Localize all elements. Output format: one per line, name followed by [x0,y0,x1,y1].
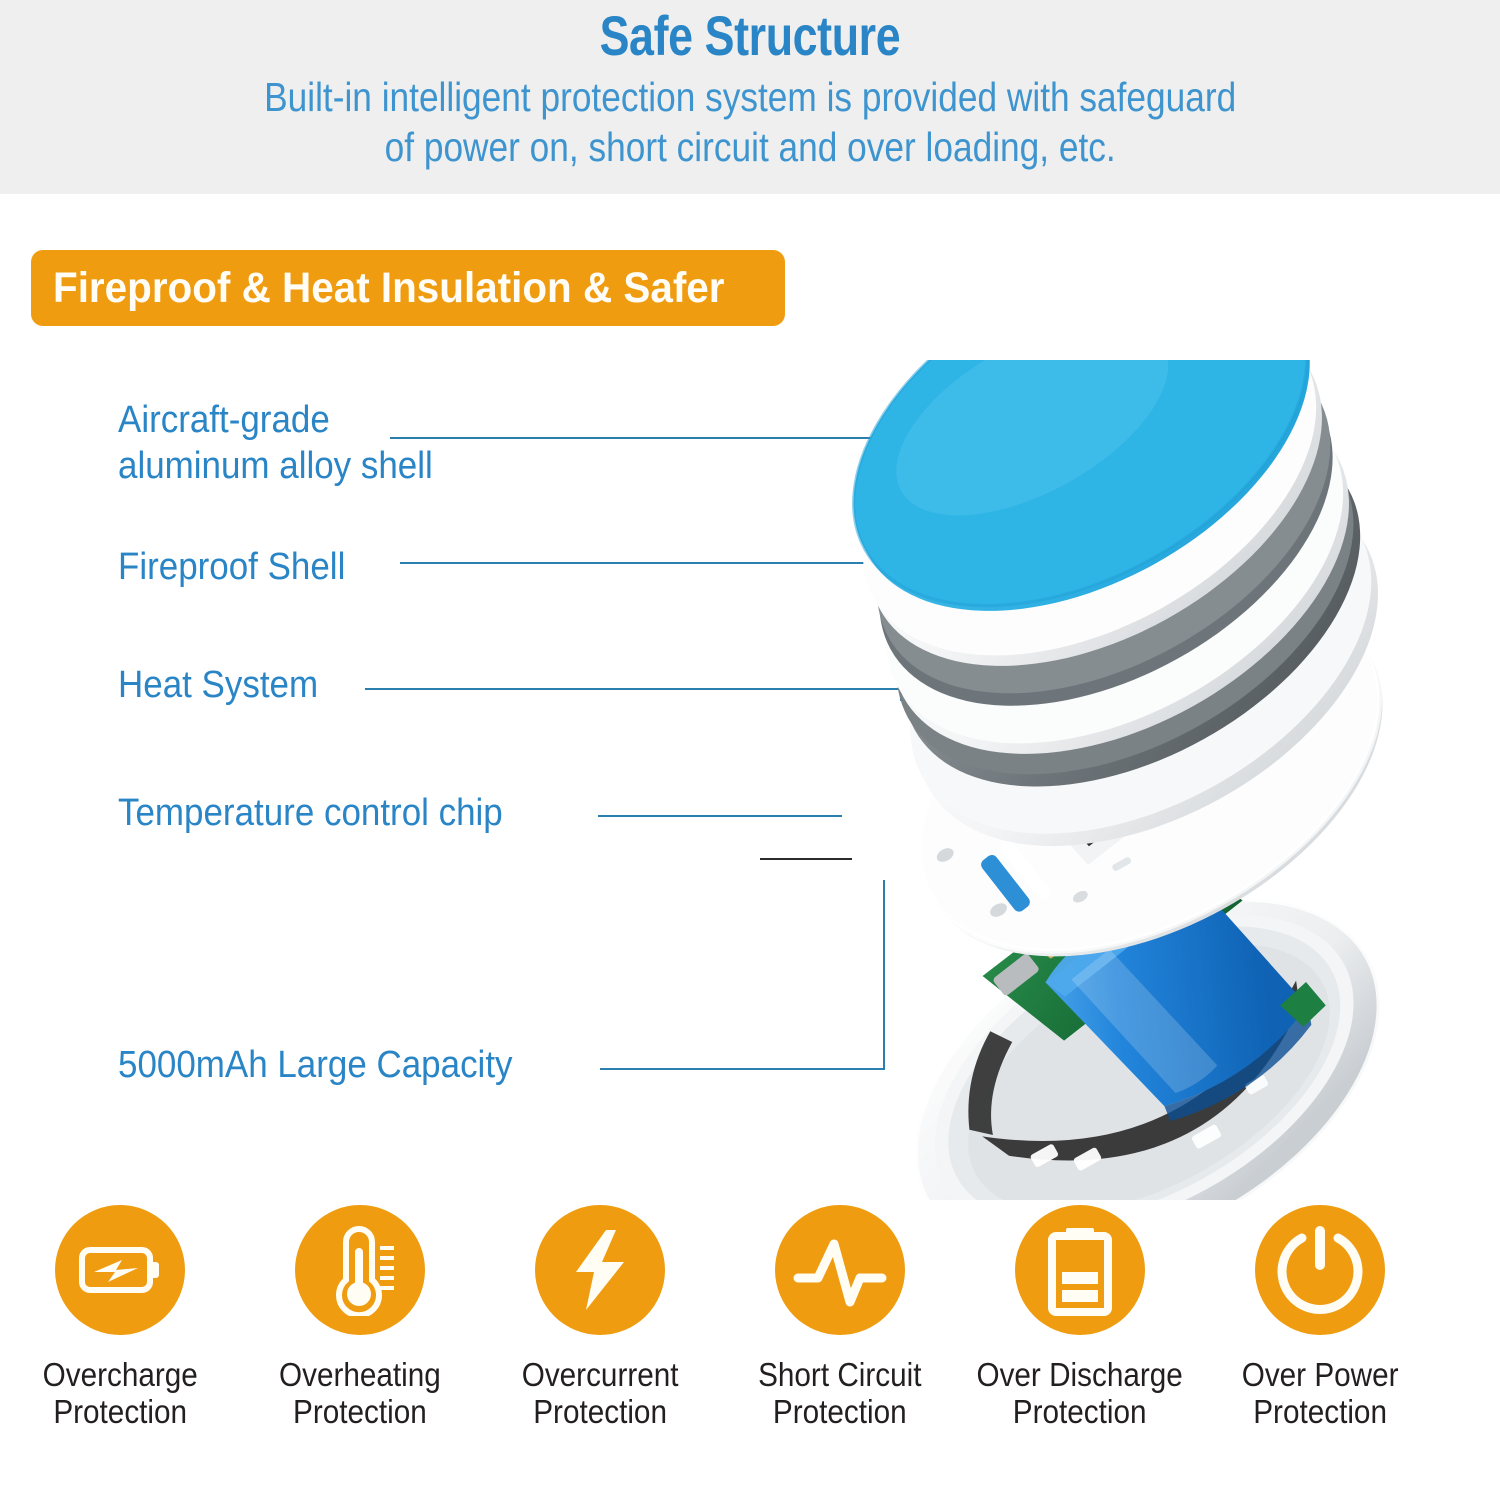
protection-label-overcurrent: Overcurrent Protection [522,1357,679,1431]
page-title: Safe Structure [600,6,901,66]
pulse-wave-icon [775,1205,905,1335]
callout-temperature-chip: Temperature control chip [118,791,503,837]
protection-label-overcurrent-line-2: Protection [522,1394,679,1431]
protection-item-overcurrent[interactable]: Overcurrent Protection [480,1205,720,1500]
callout-temperature-chip-line-1: Temperature control chip [118,791,503,837]
protection-label-overcurrent-line-1: Overcurrent [522,1357,679,1394]
callout-aluminum-shell: Aircraft-grade aluminum alloy shell [118,398,433,489]
callout-fireproof-shell-line-1: Fireproof Shell [118,545,345,591]
callout-battery-capacity: 5000mAh Large Capacity [118,1043,513,1089]
lightning-bolt-icon [535,1205,665,1335]
protection-icon-row: Overcharge Protection Overheating Protec… [0,1205,1500,1500]
callout-aluminum-shell-line-2: aluminum alloy shell [118,444,433,490]
protection-item-overheating[interactable]: Overheating Protection [240,1205,480,1500]
header-band: Safe Structure Built-in intelligent prot… [0,0,1500,194]
callout-heat-system-line-1: Heat System [118,663,318,709]
battery-bolt-icon [55,1205,185,1335]
protection-label-overcharge-line-2: Protection [42,1394,197,1431]
protection-label-overcharge: Overcharge Protection [42,1357,197,1431]
protection-label-over-power: Over Power Protection [1242,1357,1399,1431]
header-subtitle-line-2: of power on, short circuit and over load… [264,122,1236,172]
protection-label-overheating-line-1: Overheating [279,1357,441,1394]
callout-heat-system: Heat System [118,663,318,709]
protection-item-short-circuit[interactable]: Short Circuit Protection [720,1205,960,1500]
battery-level-icon [1015,1205,1145,1335]
header-subtitle: Built-in intelligent protection system i… [264,72,1236,172]
protection-label-over-power-line-1: Over Power [1242,1357,1399,1394]
protection-label-short-circuit: Short Circuit Protection [758,1357,921,1431]
protection-label-over-power-line-2: Protection [1242,1394,1399,1431]
thermometer-icon [295,1205,425,1335]
callout-battery-capacity-line-1: 5000mAh Large Capacity [118,1043,513,1089]
protection-label-overheating-line-2: Protection [279,1394,441,1431]
protection-label-short-circuit-line-1: Short Circuit [758,1357,921,1394]
protection-label-over-discharge-line-2: Protection [977,1394,1183,1431]
protection-item-over-discharge[interactable]: Over Discharge Protection [960,1205,1200,1500]
feature-banner-label: Fireproof & Heat Insulation & Safer [53,264,725,313]
product-exploded-view [700,360,1500,1200]
protection-item-overcharge[interactable]: Overcharge Protection [0,1205,240,1500]
power-button-icon [1255,1205,1385,1335]
protection-label-overheating: Overheating Protection [279,1357,441,1431]
header-subtitle-line-1: Built-in intelligent protection system i… [264,72,1236,122]
callout-aluminum-shell-line-1: Aircraft-grade [118,398,433,444]
protection-item-over-power[interactable]: Over Power Protection [1200,1205,1440,1500]
protection-label-over-discharge: Over Discharge Protection [977,1357,1183,1431]
feature-banner: Fireproof & Heat Insulation & Safer [31,250,785,326]
protection-label-overcharge-line-1: Overcharge [42,1357,197,1394]
protection-label-short-circuit-line-2: Protection [758,1394,921,1431]
callout-fireproof-shell: Fireproof Shell [118,545,345,591]
protection-label-over-discharge-line-1: Over Discharge [977,1357,1183,1394]
